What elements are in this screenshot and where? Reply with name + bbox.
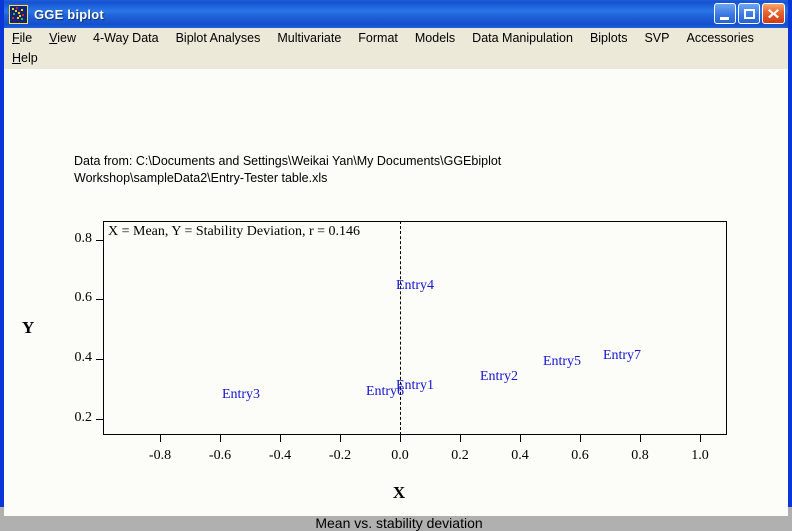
window-controls	[714, 3, 785, 24]
x-tick-label: -0.6	[195, 448, 245, 464]
vertical-reference-line	[400, 221, 401, 435]
x-tick-mark	[580, 435, 581, 442]
x-tick-label: 0.6	[555, 448, 605, 464]
menu-item-format[interactable]: Format	[358, 30, 407, 46]
application-window: GGE biplot File View 4-Way Data Biplot A…	[0, 0, 792, 507]
menu-item-data-manipulation[interactable]: Data Manipulation	[472, 30, 582, 46]
close-button[interactable]	[762, 3, 785, 24]
y-tick-mark	[96, 419, 103, 420]
x-tick-label: -0.4	[255, 448, 305, 464]
title-bar[interactable]: GGE biplot	[4, 0, 788, 28]
x-axis-title: X	[4, 483, 792, 503]
y-tick-label: 0.8	[52, 231, 92, 247]
x-tick-label: -0.2	[315, 448, 365, 464]
menu-item-svp[interactable]: SVP	[644, 30, 678, 46]
data-point-label[interactable]: Entry7	[603, 348, 641, 364]
data-point-label[interactable]: Entry4	[396, 278, 434, 294]
menu-item-models[interactable]: Models	[415, 30, 464, 46]
y-tick-mark	[96, 359, 103, 360]
y-tick-mark	[96, 299, 103, 300]
x-tick-label: -0.8	[135, 448, 185, 464]
y-tick-mark	[96, 240, 103, 241]
x-tick-mark	[340, 435, 341, 442]
menu-row-primary: File View 4-Way Data Biplot Analyses Mul…	[4, 28, 788, 48]
scatter-plot: X = Mean, Y = Stability Deviation, r = 0…	[4, 69, 788, 516]
x-tick-label: 0.2	[435, 448, 485, 464]
menu-row-secondary: Help	[4, 48, 788, 68]
x-tick-mark	[700, 435, 701, 442]
plot-annotation: X = Mean, Y = Stability Deviation, r = 0…	[108, 224, 360, 240]
y-tick-label: 0.2	[52, 410, 92, 426]
x-tick-mark	[400, 435, 401, 442]
x-tick-label: 0.0	[375, 448, 425, 464]
x-tick-mark	[520, 435, 521, 442]
menu-item-4-way-data[interactable]: 4-Way Data	[93, 30, 168, 46]
biplot-scatter-icon	[9, 5, 28, 24]
client-area: Data from: C:\Documents and Settings\Wei…	[4, 69, 788, 516]
menu-bar[interactable]: File View 4-Way Data Biplot Analyses Mul…	[4, 28, 788, 69]
menu-item-file[interactable]: File	[12, 30, 41, 46]
y-tick-label: 0.6	[52, 290, 92, 306]
data-point-label[interactable]: Entry2	[480, 369, 518, 385]
menu-item-multivariate[interactable]: Multivariate	[277, 30, 350, 46]
plot-caption: Mean vs. stability deviation	[4, 515, 792, 531]
close-icon	[767, 7, 780, 20]
data-point-label[interactable]: Entry1	[396, 378, 434, 394]
menu-item-biplots[interactable]: Biplots	[590, 30, 637, 46]
x-tick-label: 0.4	[495, 448, 545, 464]
x-tick-mark	[280, 435, 281, 442]
menu-item-biplot-analyses[interactable]: Biplot Analyses	[176, 30, 270, 46]
menu-item-help[interactable]: Help	[12, 50, 47, 66]
x-tick-label: 0.8	[615, 448, 665, 464]
x-tick-mark	[640, 435, 641, 442]
data-point-label[interactable]: Entry5	[543, 354, 581, 370]
menu-item-accessories[interactable]: Accessories	[686, 30, 762, 46]
maximize-button[interactable]	[738, 3, 760, 24]
x-tick-mark	[220, 435, 221, 442]
minimize-button[interactable]	[714, 3, 736, 24]
x-tick-mark	[460, 435, 461, 442]
plot-frame	[103, 221, 727, 435]
y-tick-label: 0.4	[52, 350, 92, 366]
window-title: GGE biplot	[34, 7, 104, 22]
x-tick-label: 1.0	[675, 448, 725, 464]
menu-item-view[interactable]: View	[49, 30, 85, 46]
data-point-label[interactable]: Entry3	[222, 387, 260, 403]
y-axis-title: Y	[22, 318, 34, 338]
x-tick-mark	[160, 435, 161, 442]
